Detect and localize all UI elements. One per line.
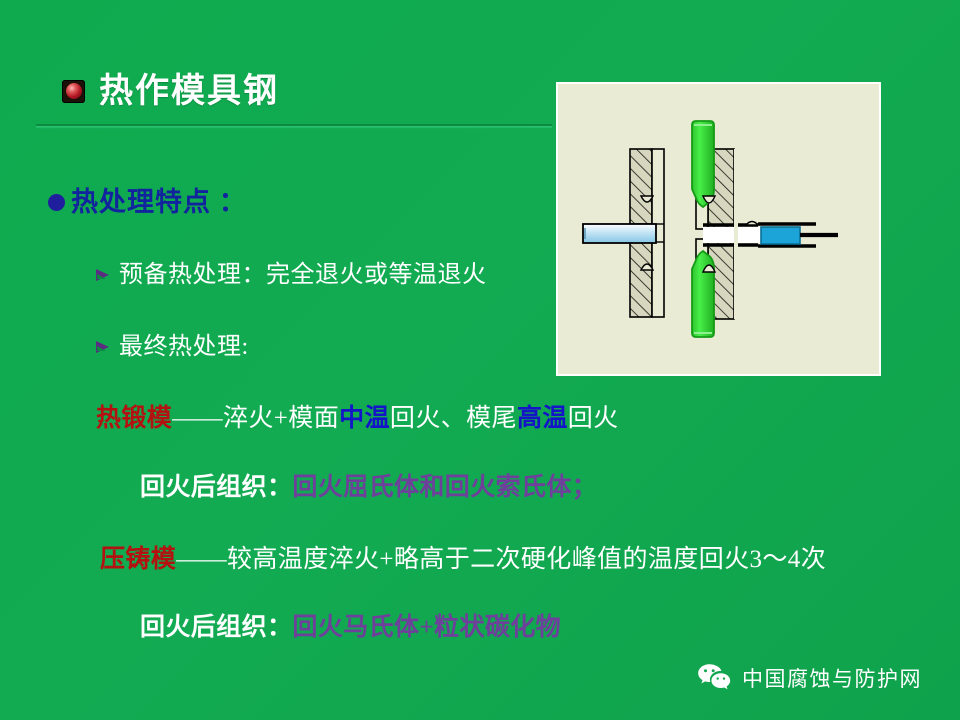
die-casting-line: 压铸模——较高温度淬火+略高于二次硬化峰值的温度回火3～4次 — [100, 547, 826, 572]
slide-canvas: 热作模具钢 热处理特点 ： 预备热处理：完全退火或等温退火 最终热处理: 热锻模… — [0, 0, 960, 720]
die-casting-cross-section-diagram — [556, 82, 881, 376]
list-item-preliminary-treatment: 预备热处理：完全退火或等温退火 — [96, 263, 487, 287]
footer-label: 中国腐蚀与防护网 — [742, 663, 922, 693]
microstructure-label: 回火后组织： — [140, 614, 292, 641]
forge-die-segment-1: ——淬火+模面 — [172, 405, 339, 432]
forge-microstructure-line: 回火后组织：回火屈氏体和回火索氏体； — [140, 475, 597, 500]
list-item-label: 预备热处理：完全退火或等温退火 — [119, 263, 487, 287]
forge-die-name: 热锻模 — [96, 405, 172, 432]
forge-die-segment-2: 中温 — [339, 405, 390, 432]
forge-die-segment-4: 高温 — [517, 405, 568, 432]
microstructure-label: 回火后组织： — [140, 474, 292, 501]
forge-die-line: 热锻模——淬火+模面中温回火、模尾高温回火 — [96, 406, 619, 431]
red-gem-icon — [62, 80, 85, 103]
footer-watermark: 中国腐蚀与防护网 — [697, 663, 922, 693]
purple-arrow-bullet-icon — [96, 268, 111, 283]
wechat-icon — [697, 663, 731, 693]
die-casting-name: 压铸模 — [100, 546, 176, 573]
die-casting-microstructure-line: 回火后组织：回火马氏体+粒状碳化物 — [140, 615, 561, 640]
slide-title-row: 热作模具钢 — [62, 74, 279, 108]
list-item-final-treatment: 最终热处理: — [96, 335, 249, 359]
list-item-label: 最终热处理: — [119, 335, 249, 359]
microstructure-value: 回火马氏体+粒状碳化物 — [292, 614, 561, 641]
microstructure-value: 回火屈氏体和回火索氏体； — [292, 474, 597, 501]
title-divider — [36, 124, 552, 129]
heading-label: 热处理特点 ： — [71, 189, 247, 216]
purple-arrow-bullet-icon — [96, 340, 111, 355]
die-casting-text: ——较高温度淬火+略高于二次硬化峰值的温度回火3～4次 — [176, 546, 826, 573]
blue-dot-bullet-icon — [48, 194, 65, 211]
forge-die-segment-3: 回火、模尾 — [390, 405, 517, 432]
page-title: 热作模具钢 — [99, 74, 279, 108]
forge-die-segment-5: 回火 — [568, 405, 619, 432]
heating-treatment-heading: 热处理特点 ： — [48, 189, 247, 216]
